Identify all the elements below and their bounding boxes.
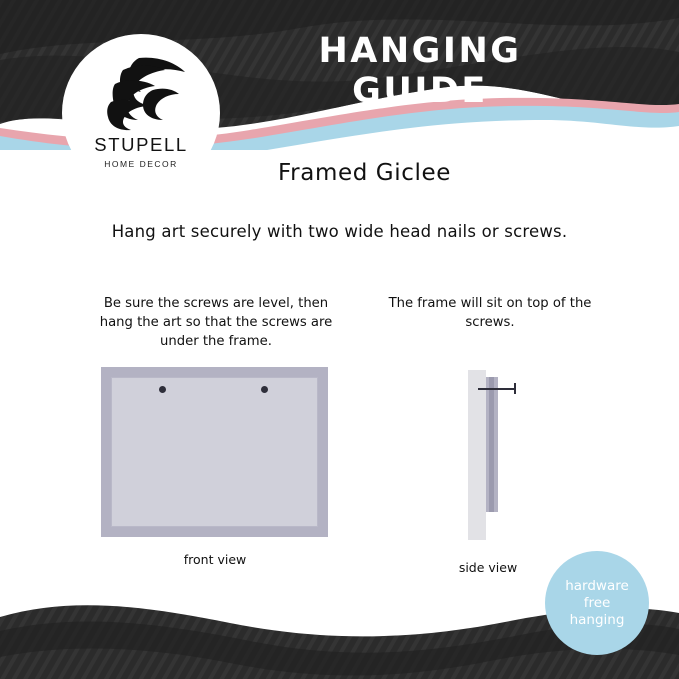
front-view-caption: Be sure the screws are level, then hang …	[92, 294, 340, 351]
stupell-swirl-logo-icon	[93, 54, 189, 132]
page-title: HANGING GUIDE	[250, 31, 590, 111]
front-view-frame-diagram	[101, 367, 328, 537]
front-view-label: front view	[100, 552, 330, 567]
instruction-text: Hang art securely with two wide head nai…	[0, 222, 679, 241]
brand-logo: STUPELL HOME DECOR	[62, 34, 220, 192]
side-view-screw-head-icon	[514, 383, 516, 394]
front-view-mat	[111, 377, 318, 527]
screw-dot-right-icon	[261, 386, 268, 393]
brand-name: STUPELL	[94, 134, 187, 156]
screw-dot-left-icon	[159, 386, 166, 393]
brand-tagline: HOME DECOR	[104, 159, 178, 169]
badge-line-1: hardware	[565, 578, 629, 595]
badge-line-2: free	[584, 595, 611, 612]
hardware-free-badge: hardware free hanging	[545, 551, 649, 655]
hanging-guide-page: STUPELL HOME DECOR HANGING GUIDE Framed …	[0, 0, 679, 679]
side-view-screw-icon	[478, 388, 516, 390]
badge-line-3: hanging	[570, 612, 625, 629]
side-view-wall	[468, 370, 486, 540]
side-view-frame-inner	[489, 377, 494, 512]
side-view-caption: The frame will sit on top of the screws.	[380, 294, 600, 332]
